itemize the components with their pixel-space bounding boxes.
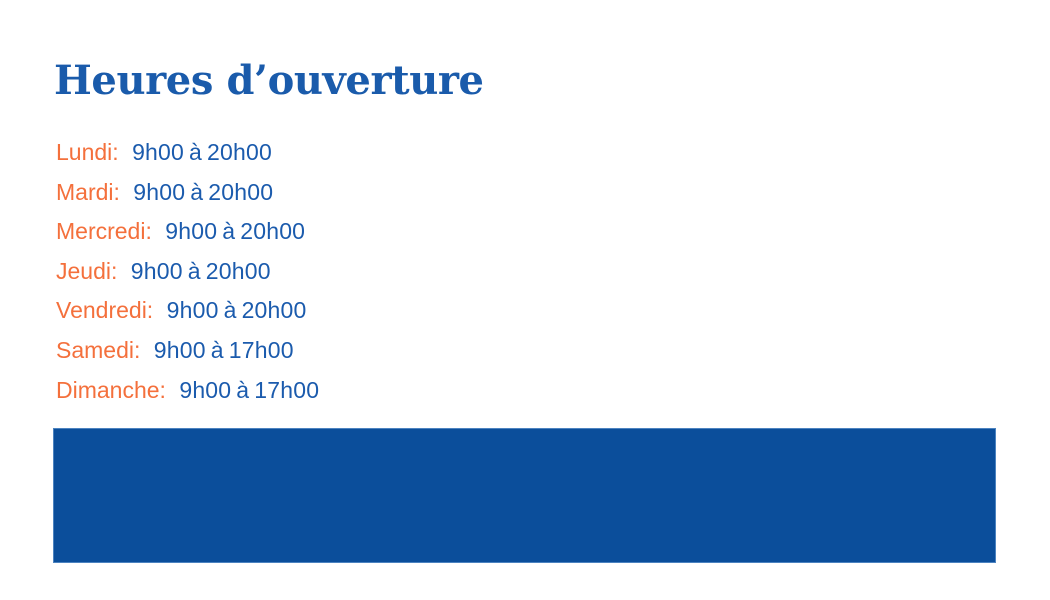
day-label: Jeudi: <box>56 258 117 284</box>
hours-row: Samedi: 9h00à17h00 <box>56 331 936 371</box>
time-range: 9h00à20h00 <box>160 297 307 323</box>
hours-row: Mercredi: 9h00à20h00 <box>56 212 936 252</box>
day-label: Lundi: <box>56 139 119 165</box>
time-separator: à <box>184 139 207 165</box>
time-range: 9h00à20h00 <box>126 179 273 205</box>
open-time: 9h00 <box>131 258 183 284</box>
time-range: 9h00à17h00 <box>147 337 294 363</box>
hours-row: Jeudi: 9h00à20h00 <box>56 252 936 292</box>
hours-row: Lundi: 9h00à20h00 <box>56 133 936 173</box>
close-time: 20h00 <box>240 218 305 244</box>
time-range: 9h00à20h00 <box>124 258 271 284</box>
close-time: 20h00 <box>206 258 271 284</box>
time-range: 9h00à20h00 <box>158 218 305 244</box>
close-time: 20h00 <box>242 297 307 323</box>
slide-canvas: Heures d’ouverture Lundi: 9h00à20h00 Mar… <box>0 0 1050 600</box>
close-time: 17h00 <box>254 377 319 403</box>
hours-row: Mardi: 9h00à20h00 <box>56 173 936 213</box>
open-time: 9h00 <box>154 337 206 363</box>
page-title: Heures d’ouverture <box>54 58 484 104</box>
day-label: Vendredi: <box>56 297 153 323</box>
time-separator: à <box>185 179 208 205</box>
time-separator: à <box>219 297 242 323</box>
open-time: 9h00 <box>133 179 185 205</box>
close-time: 20h00 <box>207 139 272 165</box>
hours-row: Dimanche: 9h00à17h00 <box>56 371 936 411</box>
open-time: 9h00 <box>132 139 184 165</box>
open-time: 9h00 <box>165 218 217 244</box>
time-separator: à <box>183 258 206 284</box>
content-placeholder-block <box>53 428 996 563</box>
opening-hours-list: Lundi: 9h00à20h00 Mardi: 9h00à20h00 Merc… <box>56 133 936 410</box>
open-time: 9h00 <box>167 297 219 323</box>
time-range: 9h00à20h00 <box>125 139 272 165</box>
day-label: Mardi: <box>56 179 120 205</box>
hours-row: Vendredi: 9h00à20h00 <box>56 291 936 331</box>
time-range: 9h00à17h00 <box>172 377 319 403</box>
open-time: 9h00 <box>179 377 231 403</box>
day-label: Dimanche: <box>56 377 166 403</box>
time-separator: à <box>217 218 240 244</box>
time-separator: à <box>206 337 229 363</box>
day-label: Mercredi: <box>56 218 152 244</box>
time-separator: à <box>231 377 254 403</box>
day-label: Samedi: <box>56 337 140 363</box>
close-time: 20h00 <box>208 179 273 205</box>
close-time: 17h00 <box>229 337 294 363</box>
